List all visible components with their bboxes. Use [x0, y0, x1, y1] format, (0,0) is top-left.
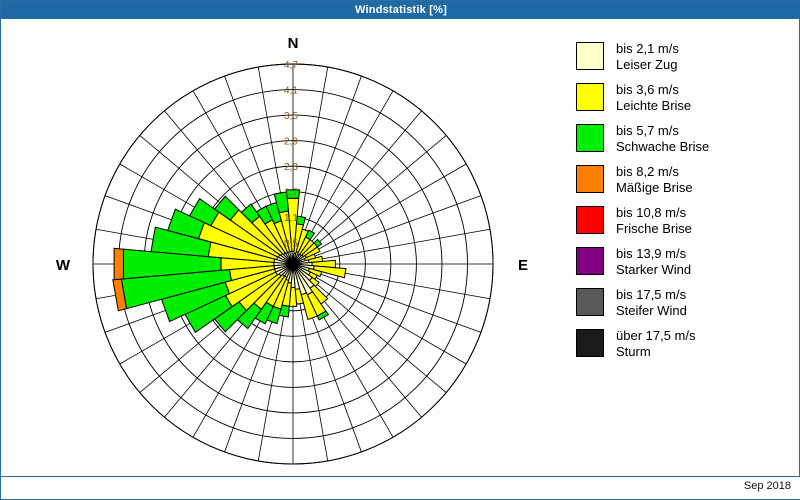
radial-tick-label: 4,1	[284, 86, 298, 97]
legend-speed-range: bis 17,5 m/s	[616, 287, 686, 302]
legend-item: über 17,5 m/sSturm	[576, 328, 796, 360]
radial-tick-labels: 0,51,11,72,32,93,54,14,7	[284, 60, 298, 250]
wind-statistics-window: Windstatistik [%] 0,51,11,72,32,93,54,14…	[0, 0, 800, 500]
footer-bar: Sep 2018	[1, 476, 800, 499]
legend-label: bis 13,9 m/sStarker Wind	[616, 246, 691, 278]
legend-color-swatch	[576, 329, 604, 357]
legend-color-swatch	[576, 247, 604, 275]
legend-beaufort-name: Frische Brise	[616, 221, 692, 237]
legend-beaufort-name: Mäßige Brise	[616, 180, 693, 196]
radial-tick-label: 1,7	[284, 188, 298, 199]
legend-item: bis 17,5 m/sSteifer Wind	[576, 287, 796, 319]
radial-tick-label: 3,5	[284, 111, 298, 122]
windrose-chart: 0,51,11,72,32,93,54,14,7 N E S W	[1, 19, 571, 479]
compass-label-east: E	[518, 257, 528, 274]
legend-item: bis 13,9 m/sStarker Wind	[576, 246, 796, 278]
radial-tick-label: 1,1	[284, 213, 298, 224]
radial-tick-label: 2,3	[284, 162, 298, 173]
title-bar: Windstatistik [%]	[1, 1, 800, 19]
legend-color-swatch	[576, 42, 604, 70]
radial-tick-label: 2,9	[284, 137, 298, 148]
legend-label: bis 3,6 m/sLeichte Brise	[616, 82, 691, 114]
legend-beaufort-name: Sturm	[616, 344, 696, 360]
legend-item: bis 2,1 m/sLeiser Zug	[576, 41, 796, 73]
legend-color-swatch	[576, 206, 604, 234]
legend-color-swatch	[576, 165, 604, 193]
legend-color-swatch	[576, 124, 604, 152]
legend-item: bis 8,2 m/sMäßige Brise	[576, 164, 796, 196]
legend-beaufort-name: Starker Wind	[616, 262, 691, 278]
legend-beaufort-name: Leiser Zug	[616, 57, 679, 73]
legend-label: bis 8,2 m/sMäßige Brise	[616, 164, 693, 196]
legend-speed-range: über 17,5 m/s	[616, 328, 696, 343]
windrose-plot-area: 0,51,11,72,32,93,54,14,7 N E S W	[1, 19, 571, 479]
legend-item: bis 5,7 m/sSchwache Brise	[576, 123, 796, 155]
radial-tick-label: 0,5	[284, 239, 298, 250]
window-title: Windstatistik [%]	[355, 1, 447, 19]
legend-label: bis 5,7 m/sSchwache Brise	[616, 123, 709, 155]
compass-label-west: W	[56, 257, 71, 274]
legend-color-swatch	[576, 288, 604, 316]
legend-speed-range: bis 13,9 m/s	[616, 246, 686, 261]
legend-speed-range: bis 3,6 m/s	[616, 82, 679, 97]
legend-speed-range: bis 8,2 m/s	[616, 164, 679, 179]
radial-tick-label: 4,7	[284, 60, 298, 71]
legend-beaufort-name: Leichte Brise	[616, 98, 691, 114]
legend-label: bis 17,5 m/sSteifer Wind	[616, 287, 687, 319]
legend-speed-range: bis 2,1 m/s	[616, 41, 679, 56]
legend-beaufort-name: Steifer Wind	[616, 303, 687, 319]
legend-color-swatch	[576, 83, 604, 111]
legend-label: bis 10,8 m/sFrische Brise	[616, 205, 692, 237]
compass-label-north: N	[288, 35, 299, 52]
legend-beaufort-name: Schwache Brise	[616, 139, 709, 155]
legend-item: bis 10,8 m/sFrische Brise	[576, 205, 796, 237]
windrose-segment	[114, 248, 123, 279]
legend-speed-range: bis 5,7 m/s	[616, 123, 679, 138]
date-stamp: Sep 2018	[744, 480, 791, 492]
legend-label: bis 2,1 m/sLeiser Zug	[616, 41, 679, 73]
legend-speed-range: bis 10,8 m/s	[616, 205, 686, 220]
legend-item: bis 3,6 m/sLeichte Brise	[576, 82, 796, 114]
legend: bis 2,1 m/sLeiser Zugbis 3,6 m/sLeichte …	[576, 41, 796, 369]
legend-label: über 17,5 m/sSturm	[616, 328, 696, 360]
